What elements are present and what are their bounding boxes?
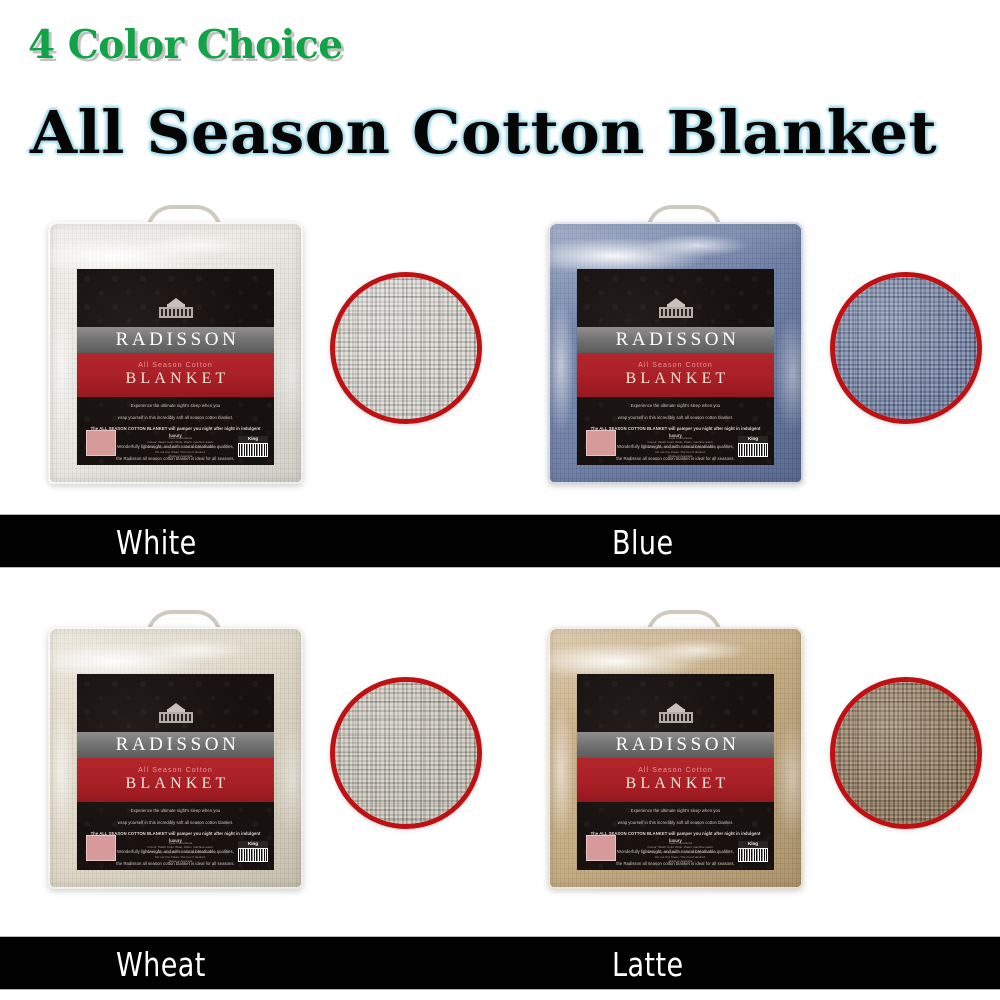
label-product-word: BLANKET [625, 370, 729, 388]
label-barcode-block: King [238, 841, 268, 862]
label-subtitle: All Season Cotton [638, 767, 713, 774]
brand-band: RADISSON [77, 732, 274, 758]
product-label-card: RADISSON All Season Cotton BLANKET Exper… [77, 674, 274, 870]
body-line-2: wrap yourself in this incredibly soft al… [87, 415, 264, 422]
building-logo-icon [154, 297, 198, 319]
label-color-chip [586, 835, 616, 861]
label-color-chip [86, 430, 116, 456]
product-label-card: RADISSON All Season Cotton BLANKET Exper… [77, 269, 274, 465]
body-line-1: Experience the ultimate night's sleep wh… [87, 403, 264, 410]
label-color-chip [586, 430, 616, 456]
product-red-band: All Season Cotton BLANKET [77, 758, 274, 802]
package-white: RADISSON All Season Cotton BLANKET Exper… [48, 222, 303, 484]
caption-blue: Blue [612, 515, 674, 569]
body-line-1: Experience the ultimate night's sleep wh… [587, 808, 764, 815]
fineprint-4: Made in Australia [129, 859, 232, 864]
blue-fabric-swatch [830, 272, 982, 424]
brand-band: RADISSON [577, 327, 774, 353]
brand-name: RADISSON [616, 329, 740, 351]
product-cell-wheat: RADISSON All Season Cotton BLANKET Exper… [0, 605, 500, 915]
package-blue: RADISSON All Season Cotton BLANKET Exper… [548, 222, 803, 484]
brand-band: RADISSON [77, 327, 274, 353]
label-barcode-block: King [738, 841, 768, 862]
size-tag: King [738, 841, 768, 848]
product-red-band: All Season Cotton BLANKET [577, 353, 774, 397]
body-line-2: wrap yourself in this incredibly soft al… [587, 415, 764, 422]
white-fabric-swatch [330, 272, 482, 424]
latte-fabric-swatch [830, 677, 982, 829]
product-cell-blue: RADISSON All Season Cotton BLANKET Exper… [500, 200, 1000, 510]
wheat-fabric-swatch [330, 677, 482, 829]
swatch-fabric [335, 682, 477, 824]
body-line-1: Experience the ultimate night's sleep wh… [587, 403, 764, 410]
building-logo-icon [154, 702, 198, 724]
brand-band: RADISSON [577, 732, 774, 758]
size-tag: King [238, 436, 268, 443]
label-fineprint: Care Instructions Colour: Wash Color Wid… [129, 436, 232, 459]
label-product-word: BLANKET [125, 775, 229, 793]
brand-logo [577, 297, 774, 319]
barcode-icon [238, 848, 268, 862]
caption-latte: Latte [612, 937, 684, 991]
label-fineprint: Care Instructions Colour: Wash Color Wid… [129, 841, 232, 864]
building-logo-icon [654, 702, 698, 724]
swatch-fabric [835, 277, 977, 419]
label-barcode-block: King [738, 436, 768, 457]
label-product-word: BLANKET [125, 370, 229, 388]
product-red-band: All Season Cotton BLANKET [77, 353, 274, 397]
caption-wheat: Wheat [116, 937, 206, 991]
page-title: All Season Cotton Blanket [30, 98, 937, 167]
brand-logo [77, 702, 274, 724]
product-color-options-image: 4 Color Choice All Season Cotton Blanket [0, 0, 1000, 1000]
kicker-text: 4 Color Choice [28, 22, 343, 68]
size-tag: King [238, 841, 268, 848]
brand-logo [577, 702, 774, 724]
body-line-2: wrap yourself in this incredibly soft al… [87, 820, 264, 827]
caption-white: White [116, 515, 197, 569]
label-fineprint: Care Instructions Colour: Wash Color Wid… [629, 841, 732, 864]
barcode-icon [238, 443, 268, 457]
brand-name: RADISSON [116, 329, 240, 351]
package-latte: RADISSON All Season Cotton BLANKET Exper… [548, 627, 803, 889]
barcode-icon [738, 443, 768, 457]
label-subtitle: All Season Cotton [638, 362, 713, 369]
product-label-card: RADISSON All Season Cotton BLANKET Exper… [577, 269, 774, 465]
package-wheat: RADISSON All Season Cotton BLANKET Exper… [48, 627, 303, 889]
fineprint-4: Made in Australia [129, 454, 232, 459]
brand-logo [77, 297, 274, 319]
label-subtitle: All Season Cotton [138, 767, 213, 774]
body-line-2: wrap yourself in this incredibly soft al… [587, 820, 764, 827]
size-tag: King [738, 436, 768, 443]
label-color-chip [86, 835, 116, 861]
fineprint-4: Made in Australia [629, 454, 732, 459]
label-barcode-block: King [238, 436, 268, 457]
product-red-band: All Season Cotton BLANKET [577, 758, 774, 802]
swatch-fabric [835, 682, 977, 824]
label-subtitle: All Season Cotton [138, 362, 213, 369]
caption-band-row-1: White Blue [0, 514, 1000, 568]
caption-band-row-2: Wheat Latte [0, 936, 1000, 990]
product-label-card: RADISSON All Season Cotton BLANKET Exper… [577, 674, 774, 870]
fineprint-4: Made in Australia [629, 859, 732, 864]
product-cell-white: RADISSON All Season Cotton BLANKET Exper… [0, 200, 500, 510]
label-fineprint: Care Instructions Colour: Wash Color Wid… [629, 436, 732, 459]
barcode-icon [738, 848, 768, 862]
brand-name: RADISSON [116, 734, 240, 756]
building-logo-icon [654, 297, 698, 319]
product-cell-latte: RADISSON All Season Cotton BLANKET Exper… [500, 605, 1000, 915]
label-product-word: BLANKET [625, 775, 729, 793]
brand-name: RADISSON [616, 734, 740, 756]
body-line-1: Experience the ultimate night's sleep wh… [87, 808, 264, 815]
swatch-fabric [335, 277, 477, 419]
